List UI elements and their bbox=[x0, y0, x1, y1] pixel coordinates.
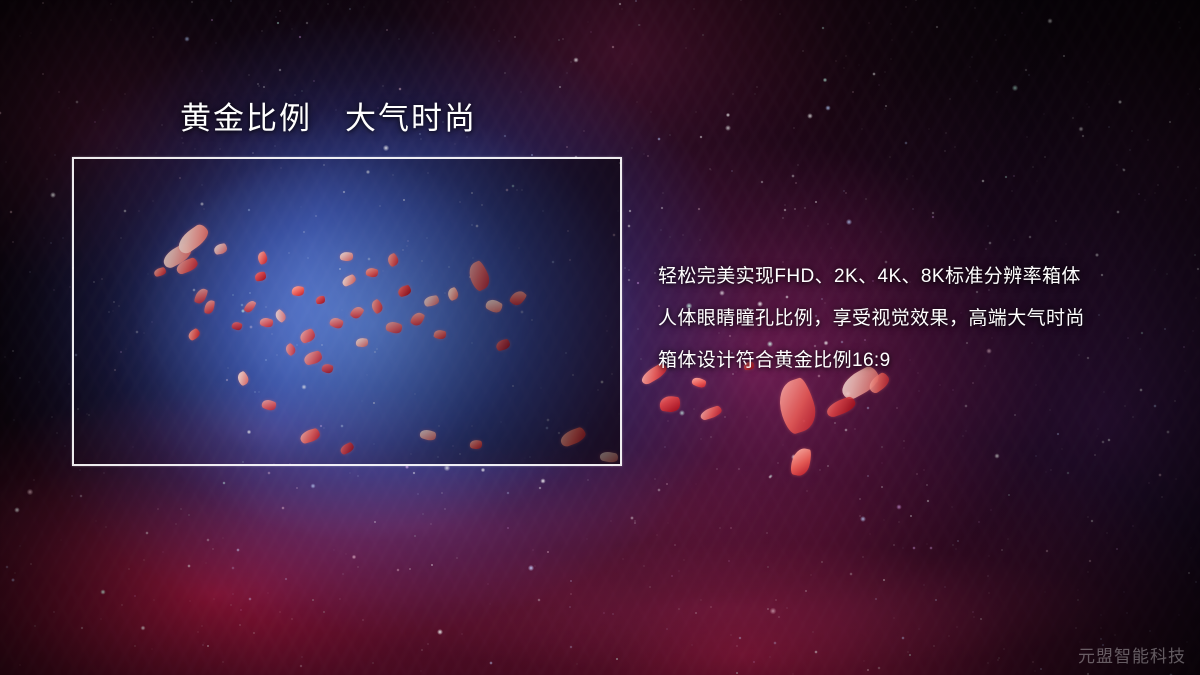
petal bbox=[659, 395, 681, 414]
page-title: 黄金比例 大气时尚 bbox=[180, 102, 477, 136]
body-line-2: 人体眼睛瞳孔比例，享受视觉效果，高端大气时尚 bbox=[658, 298, 1178, 340]
watermark: 元盟智能科技 bbox=[1078, 642, 1186, 667]
petal bbox=[825, 395, 858, 418]
display-panel-frame bbox=[72, 157, 622, 466]
petal bbox=[699, 405, 723, 421]
body-line-1: 轻松完美实现FHD、2K、4K、8K标准分辨率箱体 bbox=[658, 256, 1178, 298]
body-line-3: 箱体设计符合黄金比例16:9 bbox=[658, 340, 1178, 382]
panel-shade bbox=[74, 159, 620, 464]
body-text-block: 轻松完美实现FHD、2K、4K、8K标准分辨率箱体 人体眼睛瞳孔比例，享受视觉效… bbox=[658, 256, 1178, 382]
petal bbox=[789, 446, 812, 477]
slide-canvas: 黄金比例 大气时尚 轻松完美实现FHD、2K、4K、8K标准分辨率箱体 人体眼睛… bbox=[0, 0, 1200, 675]
petal bbox=[773, 376, 821, 436]
